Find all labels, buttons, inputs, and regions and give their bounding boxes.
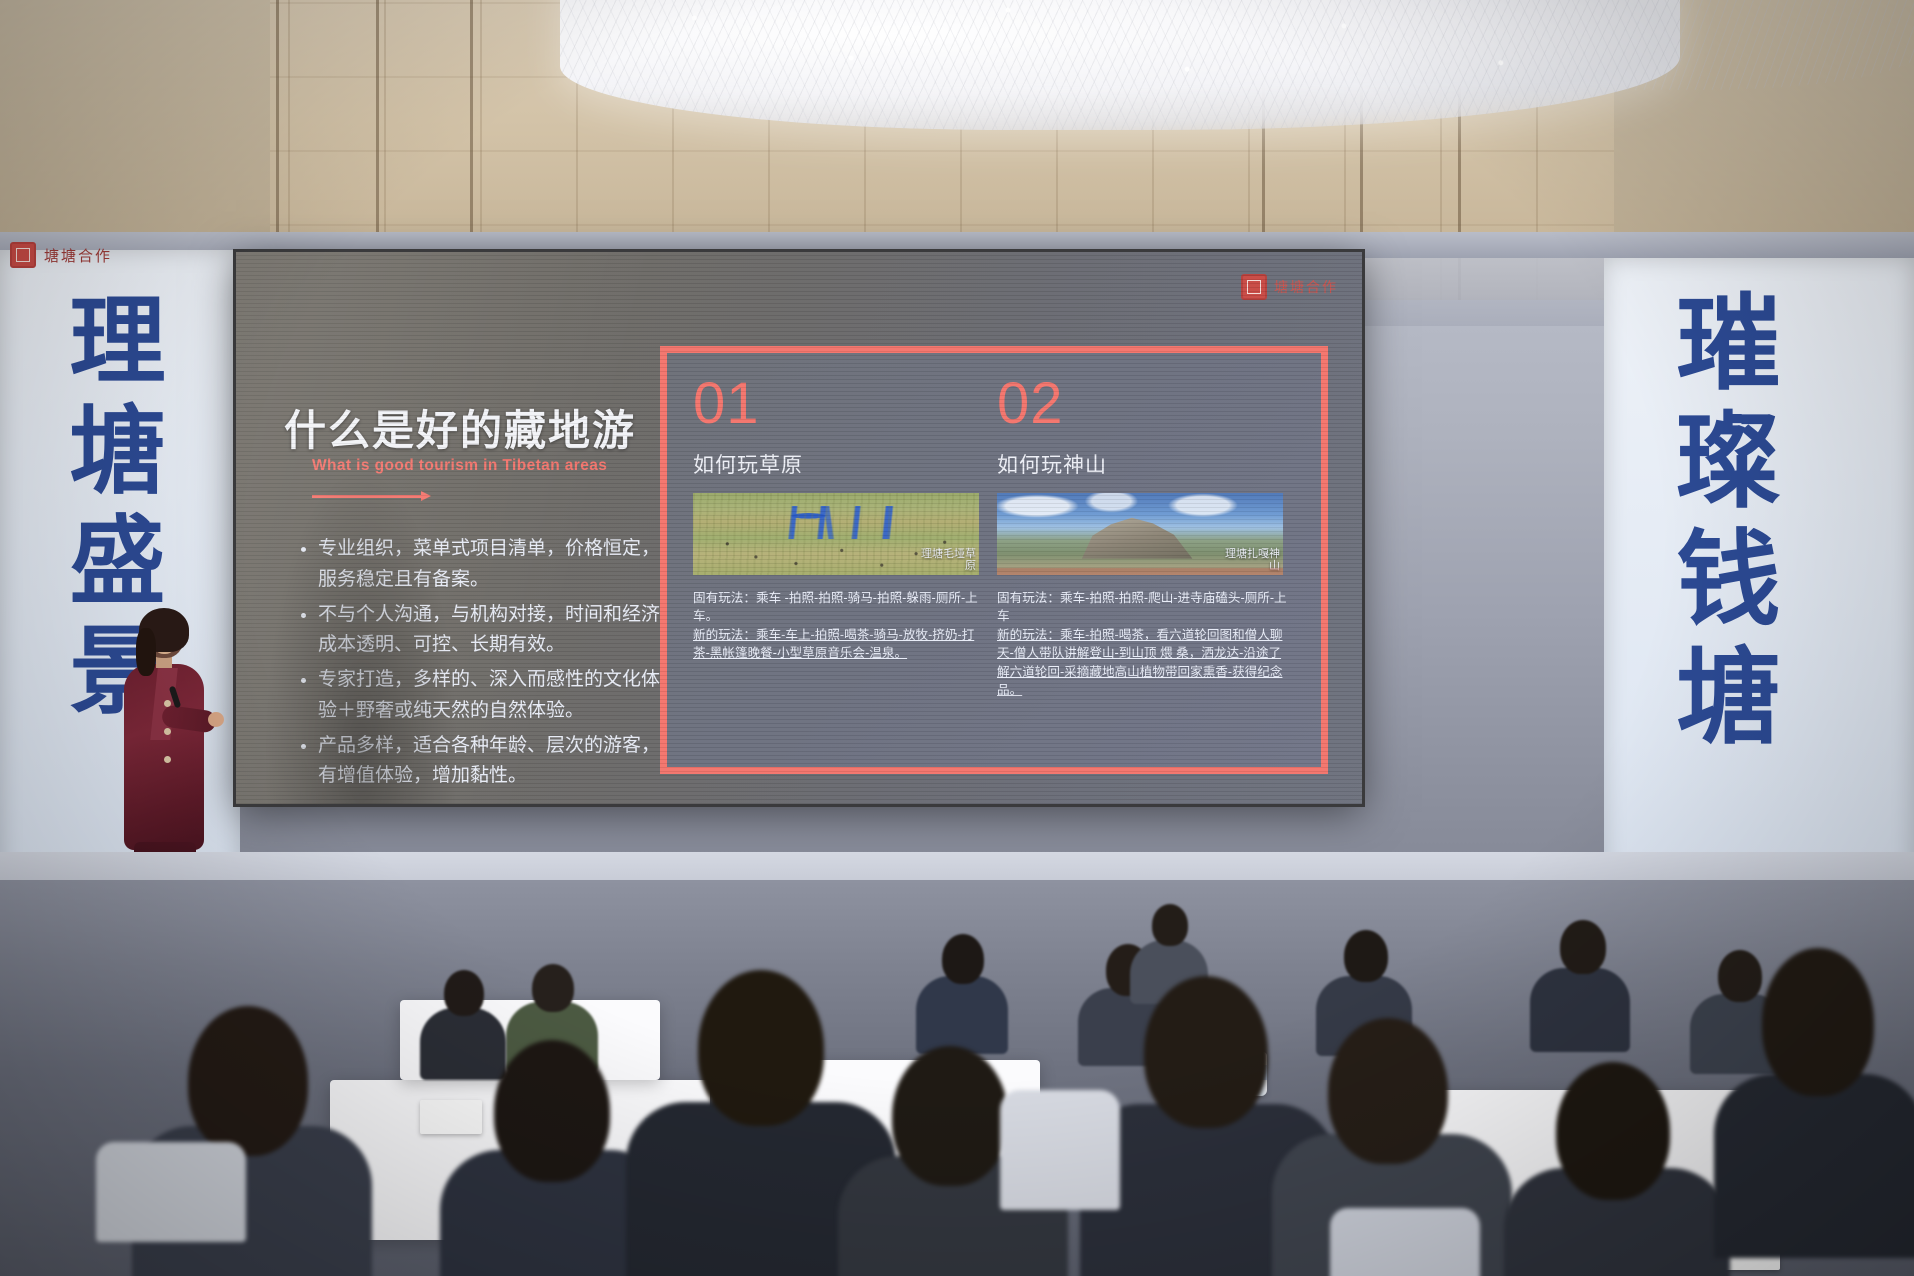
coat-button <box>164 728 171 735</box>
seal-icon <box>10 242 36 268</box>
slide-title: 什么是好的藏地游 <box>284 397 636 458</box>
audience-member-foreground <box>1714 948 1914 1248</box>
slide-logo: 塘塘合作 <box>1241 274 1338 300</box>
new-way-label: 新的玩法： <box>997 628 1060 642</box>
banner-right-calligraphy: 璀璨钱塘 <box>1644 288 1795 760</box>
seal-icon <box>1241 274 1267 300</box>
column-number: 02 <box>997 375 1289 433</box>
sacred-mountain-photo: 理塘扎嘎神山 <box>997 493 1283 575</box>
slide-subtitle: What is good tourism in Tibetan areas <box>312 457 607 475</box>
presenter-hair <box>136 628 156 676</box>
column-body-text: 固有玩法：乘车-拍照-拍照-爬山-进寺庙磕头-厕所-上车 新的玩法：乘车-拍照-… <box>997 589 1289 699</box>
column-body-text: 固有玩法：乘车 -拍照-拍照-骑马-拍照-躲雨-厕所-上车。 新的玩法：乘车-车… <box>693 589 985 663</box>
old-way-label: 固有玩法： <box>693 591 756 605</box>
bullet-item: 不与个人沟通，与机构对接，时间和经济成本透明、可控、长期有效。 <box>318 600 676 662</box>
slide-bullet-list: 专业组织，菜单式项目清单，价格恒定，服务稳定且有备案。 不与个人沟通，与机构对接… <box>296 534 676 796</box>
audience-member <box>916 930 1008 1050</box>
photo-caption: 理塘毛垭草原 <box>916 548 976 573</box>
ceiling-crystal-installation <box>560 0 1680 130</box>
crystal-texture <box>560 0 1680 130</box>
slide-column-01: 01 如何玩草原 理塘毛垭草原 固有玩法：乘车 -拍照-拍照-骑马-拍照-躲雨-… <box>693 375 985 663</box>
audience-member <box>1530 918 1630 1048</box>
coat-button <box>164 756 171 763</box>
audience-chair <box>1000 1090 1120 1210</box>
photo-scene: 塘塘合作 理塘盛景 璀璨钱塘 塘塘合作 什么是好的藏地游 What is goo… <box>0 0 1914 1276</box>
banner-left-logo: 塘塘合作 <box>10 242 112 268</box>
slide-logo-text: 塘塘合作 <box>1274 277 1338 297</box>
column-heading: 如何玩草原 <box>693 449 985 479</box>
column-heading: 如何玩神山 <box>997 449 1289 479</box>
audience-chair <box>96 1142 246 1242</box>
bullet-item: 产品多样，适合各种年龄、层次的游客，有增值体验，增加黏性。 <box>318 731 676 793</box>
banner-left-logo-text: 塘塘合作 <box>44 245 112 266</box>
old-way-label: 固有玩法： <box>997 591 1060 605</box>
bullet-item: 专业组织，菜单式项目清单，价格恒定，服务稳定且有备案。 <box>318 534 676 596</box>
audience-member-foreground <box>1504 1062 1730 1276</box>
presenter-hand <box>208 712 224 727</box>
slide-column-02: 02 如何玩神山 理塘扎嘎神山 固有玩法：乘车-拍照-拍照-爬山-进寺庙磕头-厕… <box>997 375 1289 699</box>
new-way-label: 新的玩法： <box>693 628 756 642</box>
photo-caption: 理塘扎嘎神山 <box>1220 548 1280 573</box>
audience-chair <box>1330 1208 1480 1276</box>
led-presentation-screen: 塘塘合作 什么是好的藏地游 What is good tourism in Ti… <box>236 252 1362 804</box>
bullet-item: 专家打造，多样的、深入而感性的文化体验＋野奢或纯天然的自然体验。 <box>318 665 676 727</box>
slide-arrow-rule <box>312 495 422 498</box>
column-number: 01 <box>693 375 985 433</box>
slide-coral-panel: 01 如何玩草原 理塘毛垭草原 固有玩法：乘车 -拍照-拍照-骑马-拍照-躲雨-… <box>660 346 1328 774</box>
grassland-photo: 理塘毛垭草原 <box>693 493 979 575</box>
